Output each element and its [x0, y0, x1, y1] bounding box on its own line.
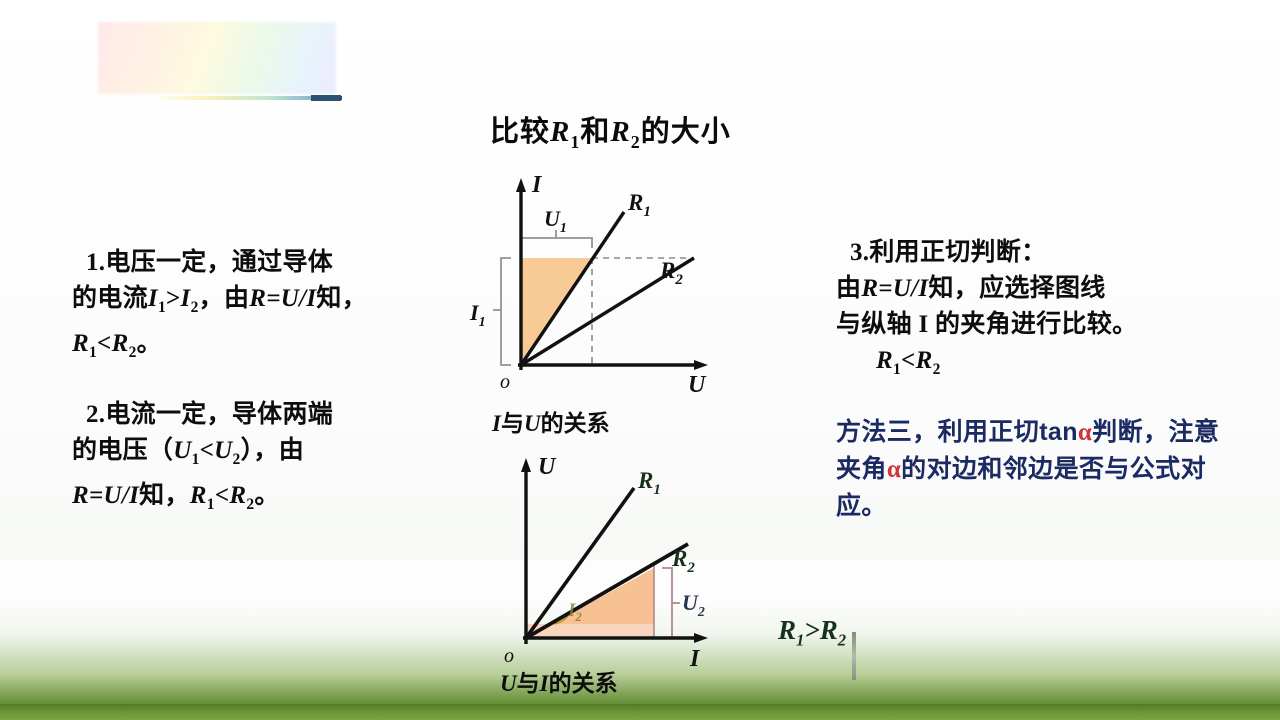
- point-2-line2a: 的电压（: [72, 437, 173, 464]
- point-1-r1: R: [72, 330, 89, 357]
- cap2-end: 的关系: [549, 671, 618, 696]
- paragraph-point-1: 1.电压一定，通过导体 的电流I1>I2，由R=U/I知， R1<R2。: [72, 245, 442, 371]
- figure-1-caption: I与U的关系: [492, 404, 610, 438]
- point-2-number: 2.: [72, 401, 105, 428]
- title-r1: R: [550, 116, 570, 148]
- method3-alpha-1: α: [1078, 419, 1092, 446]
- y-axis-arrow-1: [516, 178, 526, 192]
- point-3-line2a: 由: [836, 275, 861, 302]
- paragraph-point-2: 2.电流一定，导体两端 的电压（U1<U2），由 R=U/I知，R1<R2。: [72, 397, 442, 523]
- method3-tan: tan: [1039, 418, 1078, 446]
- cap2-i: I: [540, 671, 549, 696]
- bottom-r1: R: [778, 615, 796, 645]
- point-1-i1-sub: 1: [158, 299, 166, 316]
- bracket-u2: [662, 568, 672, 638]
- title-suffix: 的大小: [641, 116, 731, 148]
- point-2-u2-sub: 2: [233, 451, 241, 468]
- label-i1-fig1: I1: [469, 300, 486, 330]
- point-2-u2: U: [214, 437, 232, 464]
- figure-2-caption: U与I的关系: [500, 664, 618, 698]
- x-axis-label-1: U: [688, 372, 707, 398]
- page-title: 比较R1和R2的大小: [490, 108, 731, 153]
- paragraph-point-3: 3.利用正切判断： 由R=U/I知，应选择图线 与纵轴 I 的夹角进行比较。 R…: [836, 235, 1236, 388]
- decorative-blue-tip: [311, 95, 341, 101]
- slide-canvas: 比较R1和R2的大小 1.电压一定，通过导体 的电流I1>I2，由R=U/I知，…: [0, 0, 1280, 720]
- point-2-r1: R: [190, 482, 207, 509]
- label-r1-fig2: R1: [637, 468, 661, 498]
- bottom-r2: R: [820, 615, 838, 645]
- point-3-number: 3.: [836, 239, 869, 266]
- point-1-r2-sub: 2: [129, 344, 137, 361]
- title-r1-sub: 1: [570, 132, 580, 152]
- point-2-formula: R=U/I: [72, 482, 139, 509]
- bottom-result-expression: R1>R2: [778, 615, 846, 650]
- point-3-r1-sub: 1: [893, 361, 901, 378]
- bracket-u1: [521, 238, 592, 248]
- point-3-formula: R=U/I: [861, 275, 928, 302]
- label-i2-fig2: I2: [567, 600, 582, 624]
- y-axis-arrow-2: [521, 458, 531, 472]
- right-text-column: 3.利用正切判断： 由R=U/I知，应选择图线 与纵轴 I 的夹角进行比较。 R…: [836, 235, 1236, 525]
- point-1-r1-sub: 1: [89, 344, 97, 361]
- y-axis-label-1: I: [531, 172, 543, 198]
- cap1-i: I: [492, 411, 501, 436]
- point-1-number: 1.: [72, 249, 105, 276]
- method3-alpha-2: α: [887, 456, 901, 483]
- cap2-u: U: [500, 671, 517, 696]
- title-prefix: 比较: [490, 116, 550, 148]
- point-2-r2: R: [229, 482, 246, 509]
- point-1-line2c: 知，: [316, 285, 367, 312]
- point-1-line2b: ，由: [199, 285, 250, 312]
- point-1-i2: I: [181, 285, 191, 312]
- point-1-i2-sub: 2: [191, 299, 199, 316]
- bracket-i1: [501, 258, 511, 365]
- point-2-r1-sub: 1: [207, 496, 215, 513]
- point-1-gt: >: [166, 285, 181, 312]
- point-2-u1-sub: 1: [192, 451, 200, 468]
- point-2-line2b: ），由: [241, 437, 304, 464]
- cap1-end: 的关系: [541, 411, 610, 436]
- point-1-r2: R: [112, 330, 129, 357]
- left-text-column: 1.电压一定，通过导体 的电流I1>I2，由R=U/I知， R1<R2。 2.电…: [72, 245, 442, 549]
- cap2-mid: 与: [517, 671, 540, 696]
- figure-u-vs-i: U I o R1 R2 U2 I2: [476, 448, 726, 673]
- point-3-line2b: 知，应选择图线: [928, 275, 1105, 302]
- title-r2: R: [610, 116, 630, 148]
- text-cursor-caret: [852, 632, 856, 680]
- label-r2-fig2: R2: [671, 546, 695, 576]
- point-3-r2: R: [916, 347, 933, 374]
- point-3-r1: R: [876, 347, 893, 374]
- bottom-gt: >: [804, 615, 819, 645]
- paragraph-method-three: 方法三，利用正切tanα判断，注意夹角α的对边和邻边是否与公式对应。: [836, 414, 1236, 525]
- point-1-i1: I: [148, 285, 158, 312]
- point-2-line1: 电流一定，导体两端: [105, 401, 333, 428]
- point-1-lt: <: [97, 330, 112, 357]
- figure-i-vs-u: I U o R1 R2 U1 I1: [466, 170, 716, 400]
- point-3-result: R1<R2: [836, 347, 941, 374]
- x-axis-arrow-1: [694, 360, 708, 370]
- x-axis-label-2: I: [689, 646, 701, 672]
- point-2-line3a: 知，: [139, 482, 190, 509]
- decorative-rainbow-rectangle: [98, 22, 336, 94]
- point-2-lt: <: [200, 437, 215, 464]
- point-2-end: 。: [254, 482, 279, 509]
- cap1-u: U: [524, 411, 541, 436]
- point-1-formula: R=U/I: [249, 285, 316, 312]
- method3-seg1: 方法三，利用正切: [836, 419, 1039, 446]
- y-axis-label-2: U: [538, 454, 557, 480]
- origin-label-1: o: [500, 371, 510, 393]
- title-mid: 和: [580, 116, 610, 148]
- point-2-lt2: <: [215, 482, 230, 509]
- point-1-line1: 电压一定，通过导体: [105, 249, 333, 276]
- point-1-line2a: 的电流: [72, 285, 148, 312]
- bottom-r2-sub: 2: [838, 630, 846, 649]
- title-r2-sub: 2: [631, 132, 641, 152]
- point-2-u1: U: [173, 437, 191, 464]
- point-1-end: 。: [137, 330, 162, 357]
- point-3-lt: <: [901, 347, 916, 374]
- label-u2-fig2: U2: [682, 590, 705, 620]
- cap1-mid: 与: [501, 411, 524, 436]
- x-axis-arrow-2: [694, 633, 708, 643]
- label-r2-fig1: R2: [659, 258, 683, 288]
- point-3-line3: 与纵轴 I 的夹角进行比较。: [836, 311, 1137, 338]
- point-3-r2-sub: 2: [933, 361, 941, 378]
- point-3-line1: 利用正切判断：: [869, 239, 1046, 266]
- label-r1-fig1: R1: [627, 190, 651, 220]
